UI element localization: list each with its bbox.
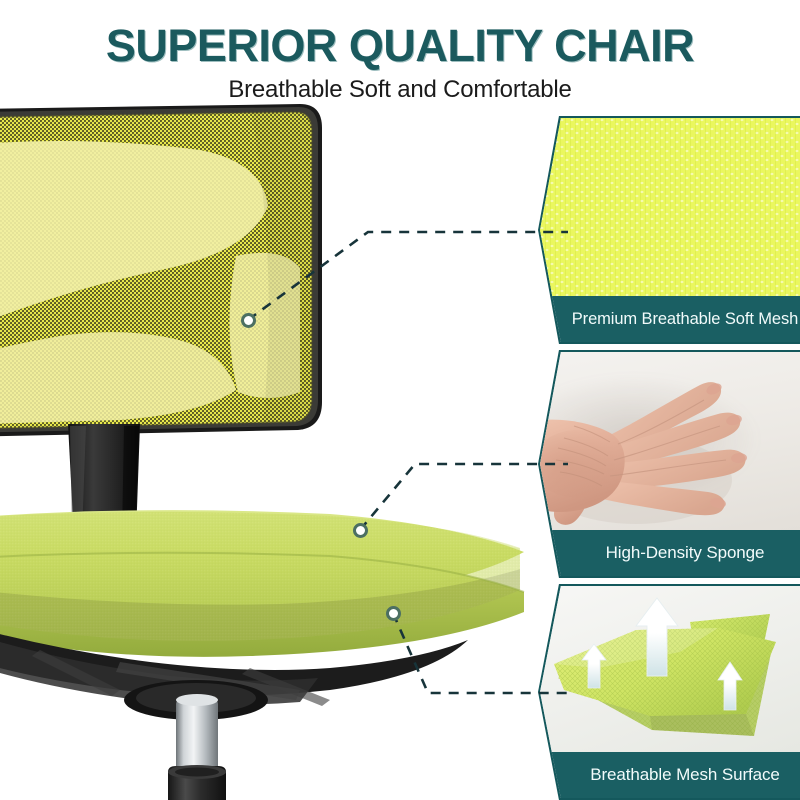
chair-illustration	[0, 0, 560, 800]
mesh-layers-illustration	[540, 586, 800, 752]
backrest-mesh-panel	[0, 100, 330, 445]
panel-caption-high-density-sponge: High-Density Sponge	[540, 530, 800, 576]
callout-dot-seat-mesh-surface[interactable]	[386, 606, 401, 621]
panel-caption-breathable-mesh-surface: Breathable Mesh Surface	[540, 752, 800, 798]
panel-media-breathable-mesh-surface	[540, 586, 800, 752]
cylinder-base-cap	[168, 765, 226, 800]
panel-border: Premium Breathable Soft Mesh	[538, 116, 800, 344]
panel-caption-premium-mesh: Premium Breathable Soft Mesh	[540, 296, 800, 342]
infographic-canvas: SUPERIOR QUALITY CHAIR Breathable Soft a…	[0, 0, 800, 800]
page-subtitle: Breathable Soft and Comfortable	[0, 76, 800, 104]
hand-illustration	[540, 352, 800, 530]
chair-seat	[0, 492, 540, 660]
header: SUPERIOR QUALITY CHAIR Breathable Soft a…	[0, 0, 800, 108]
mesh-weave-texture	[540, 118, 800, 296]
callout-dot-backrest-mesh[interactable]	[241, 313, 256, 328]
feature-panel-high-density-sponge[interactable]: High-Density Sponge	[538, 350, 800, 578]
panel-media-high-density-sponge	[540, 352, 800, 530]
foam-surface	[540, 352, 800, 530]
feature-panel-breathable-mesh-surface[interactable]: Breathable Mesh Surface	[538, 584, 800, 800]
page-title: SUPERIOR QUALITY CHAIR	[0, 20, 800, 72]
airflow-scene	[540, 586, 800, 752]
panel-body: Premium Breathable Soft Mesh	[540, 118, 800, 342]
callout-dot-seat-sponge[interactable]	[353, 523, 368, 538]
chair-backrest	[0, 100, 330, 445]
panel-media-premium-mesh	[540, 118, 800, 296]
panel-body: Breathable Mesh Surface	[540, 586, 800, 798]
panel-border: High-Density Sponge	[538, 350, 800, 578]
panel-body: High-Density Sponge	[540, 352, 800, 576]
feature-panel-premium-mesh[interactable]: Premium Breathable Soft Mesh	[538, 116, 800, 344]
panel-border: Breathable Mesh Surface	[538, 584, 800, 800]
